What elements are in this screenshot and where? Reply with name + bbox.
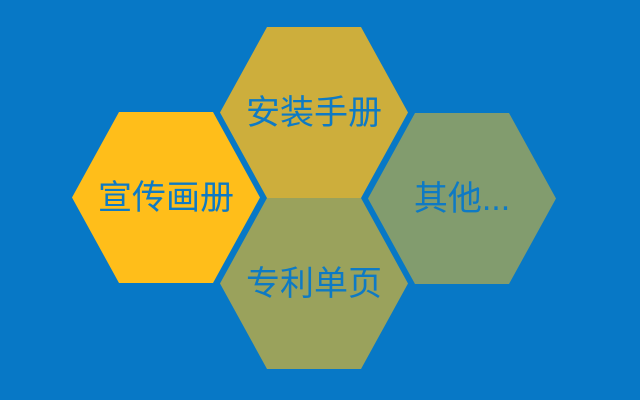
hexagon-label-zhulidanye: 专利单页 xyxy=(246,267,382,301)
hexagon-label-anzhuangshouce: 安装手册 xyxy=(246,96,382,130)
hexagon-tile-anzhuangshouce[interactable]: 安装手册 xyxy=(220,27,408,198)
hexagon-label-qita: 其他... xyxy=(414,182,510,216)
hexagon-label-xuanchuanhuace: 宣传画册 xyxy=(98,181,234,215)
hexagon-tile-xuanchuanhuace[interactable]: 宣传画册 xyxy=(72,112,260,283)
hexagon-cluster: 宣传画册 安装手册 专利单页 其他... xyxy=(0,0,640,400)
hexagon-tile-qita[interactable]: 其他... xyxy=(368,113,556,284)
hexagon-tile-zhulidanye[interactable]: 专利单页 xyxy=(220,198,408,369)
hexagon-infographic-canvas: 宣传画册 安装手册 专利单页 其他... xyxy=(0,0,640,400)
